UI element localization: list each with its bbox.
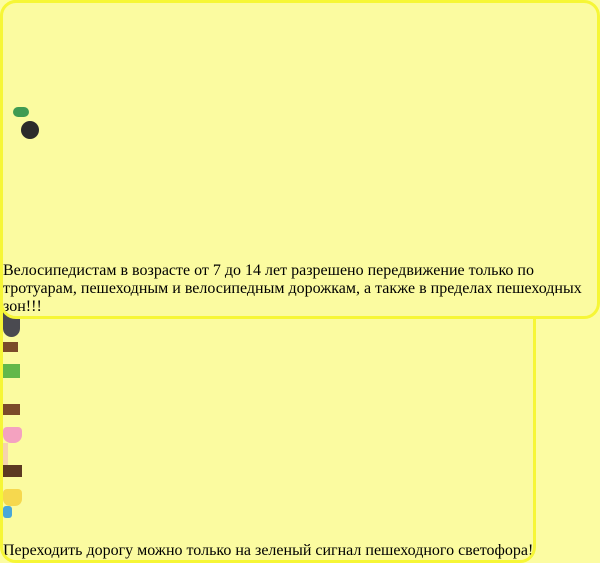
safety-poster: Отправляя детей на улицу, напомните им п… <box>0 0 600 450</box>
panel-cyclist-text: Велосипедистам в возрасте от 7 до 14 лет… <box>3 262 597 316</box>
bicycle-figure <box>3 3 597 208</box>
girl-cyclist-figure <box>3 208 597 262</box>
child-figure-girl-pink <box>3 404 533 465</box>
child-figure-boy <box>3 342 533 404</box>
panel-cyclist: Велосипедистам в возрасте от 7 до 14 лет… <box>0 0 600 319</box>
child-figure-girl-yellow <box>3 465 533 542</box>
girl-riding-bicycle-with-helmet-image <box>3 3 597 262</box>
panel-traffic-light-text: Переходить дорогу можно только на зелены… <box>3 542 533 560</box>
